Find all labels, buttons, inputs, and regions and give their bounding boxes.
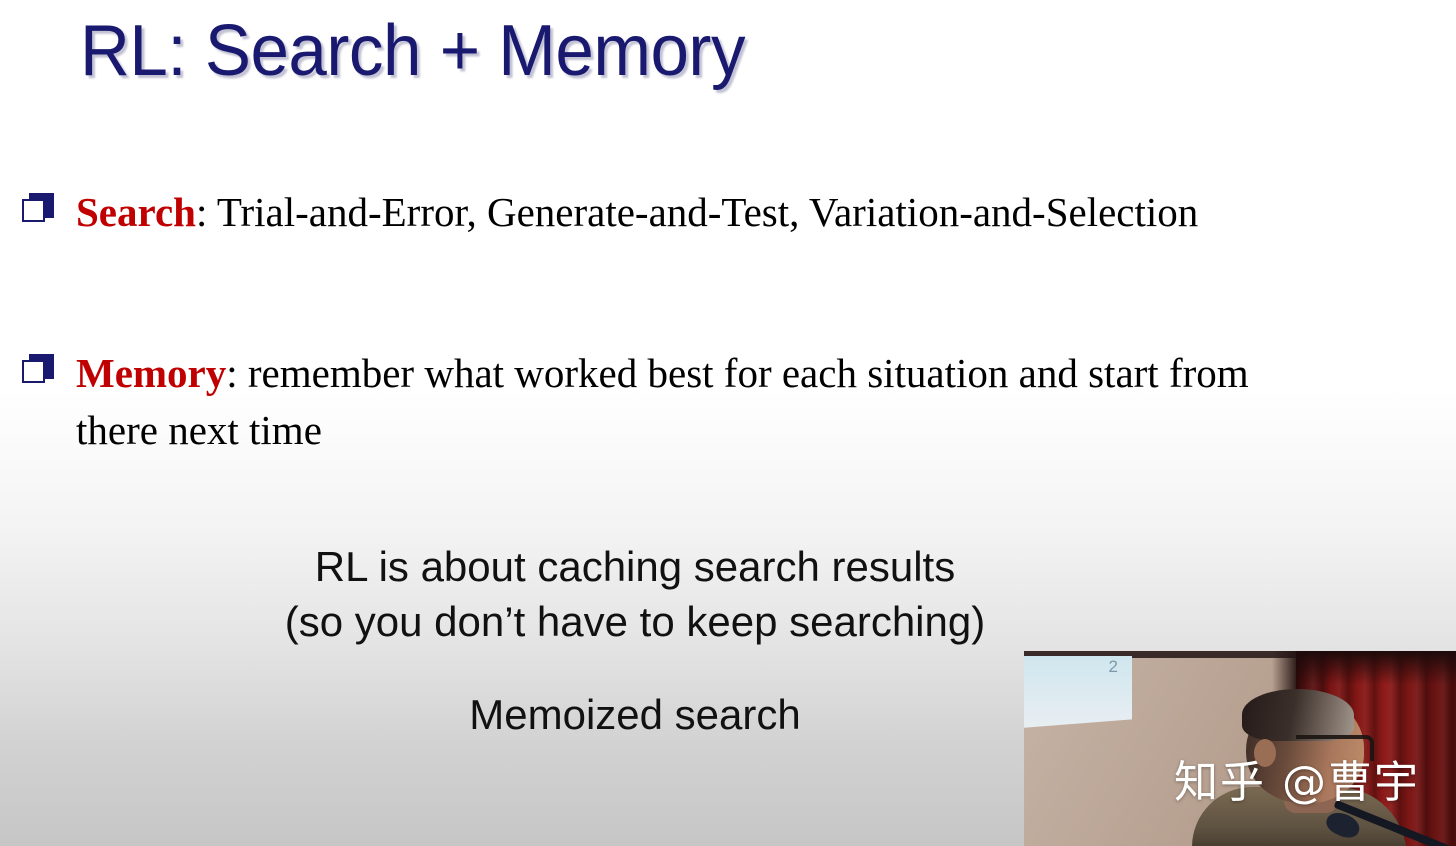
bullet-body-search: Trial-and-Error, Generate-and-Test, Vari… (217, 189, 1198, 235)
square-bullet-face (22, 199, 45, 222)
speaker-hair (1242, 689, 1354, 741)
annotation-line-parenthetical: (so you don’t have to keep searching) (0, 596, 1270, 648)
bullet-separator-memory: : (226, 350, 248, 396)
square-bullet-icon (22, 354, 56, 388)
bullet-text-search: Search: Trial-and-Error, Generate-and-Te… (76, 184, 1396, 241)
bullet-separator-search: : (196, 189, 217, 235)
page-title: RL: Search + Memory (80, 8, 745, 94)
projection-screen: 2 (1024, 656, 1132, 728)
watermark-label: 知乎 @曹宇 (1174, 759, 1420, 807)
bullet-item-memory: Memory: remember what worked best for ea… (22, 345, 1326, 459)
square-bullet-face (22, 360, 45, 383)
bullet-keyword-memory: Memory (76, 350, 226, 396)
bullet-body-memory: remember what worked best for each situa… (76, 350, 1249, 453)
bullet-item-search: Search: Trial-and-Error, Generate-and-Te… (22, 184, 1396, 241)
curtain-shadow (1296, 651, 1456, 685)
bullet-text-memory: Memory: remember what worked best for ea… (76, 345, 1326, 459)
bullet-keyword-search: Search (76, 189, 196, 235)
square-bullet-icon (22, 193, 56, 227)
annotation-line-caching: RL is about caching search results (0, 541, 1270, 593)
slide-canvas: RL: Search + Memory Search: Trial-and-Er… (0, 0, 1456, 846)
video-overlay[interactable]: 2 知乎 @曹宇 (1024, 651, 1456, 846)
slide-number-label: 2 (1109, 657, 1118, 677)
